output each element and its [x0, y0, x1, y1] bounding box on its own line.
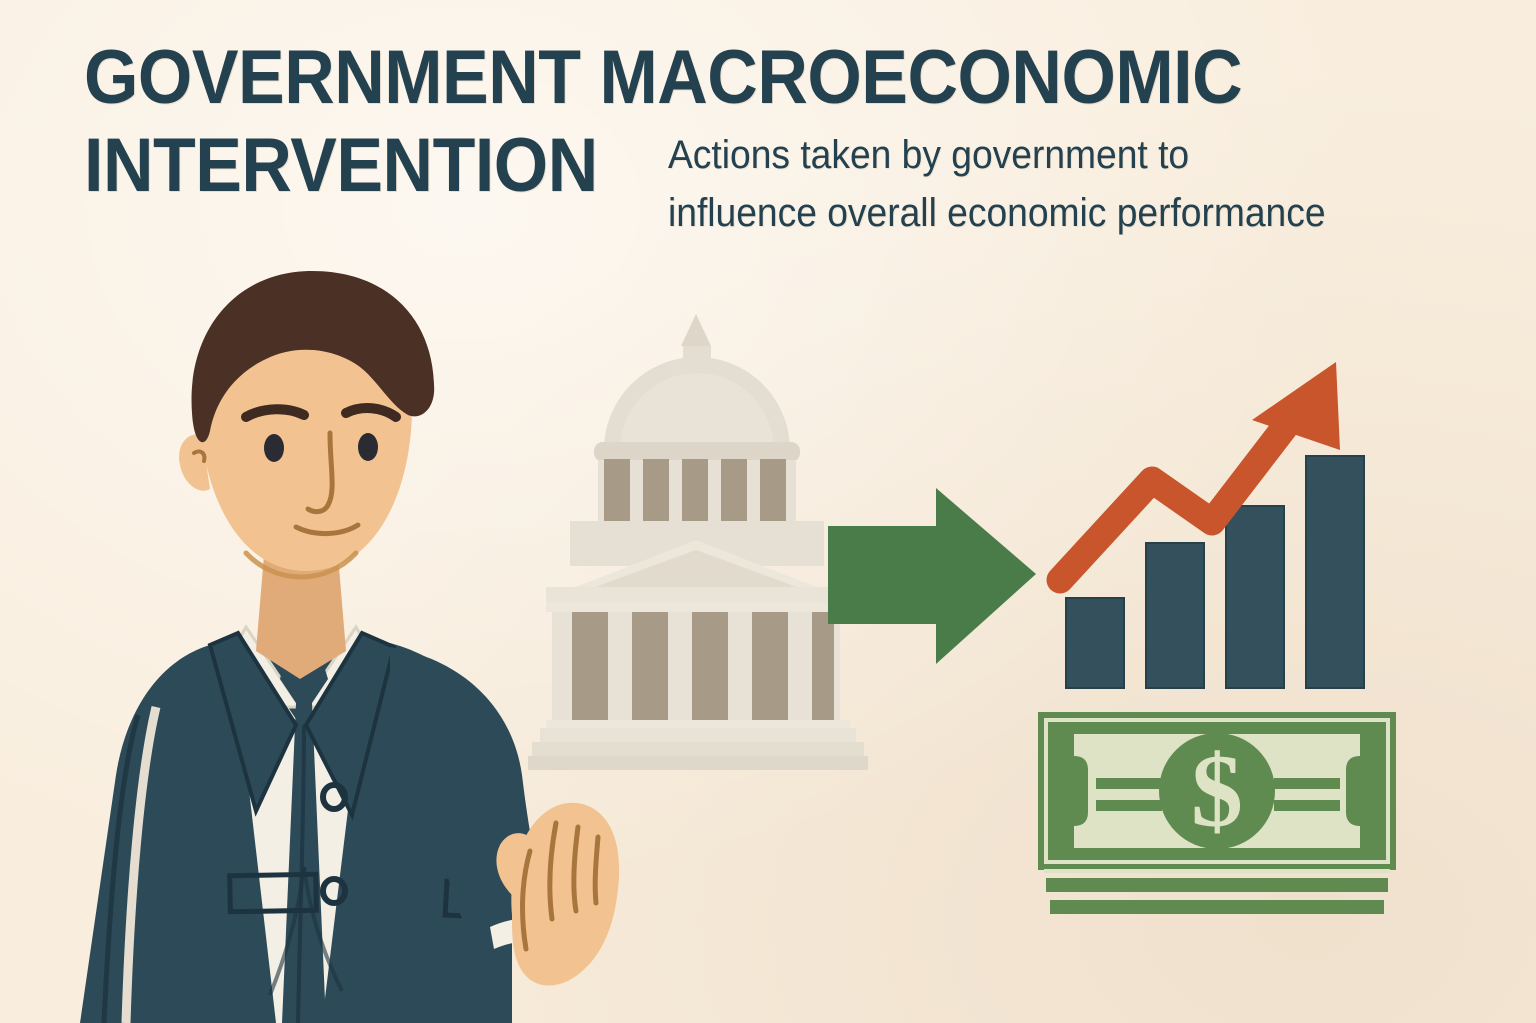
- businessman-illustration: [60, 255, 760, 1023]
- bar-4: [1306, 456, 1364, 688]
- bar-1: [1066, 598, 1124, 688]
- bar-chart-with-growth-arrow: [1040, 350, 1400, 690]
- headline-row: INTERVENTION Actions taken by government…: [84, 122, 1404, 242]
- eye-left: [264, 434, 284, 462]
- infographic-canvas: GOVERNMENT MACROECONOMIC INTERVENTION Ac…: [0, 0, 1536, 1023]
- bar-2: [1146, 543, 1204, 688]
- title-block: GOVERNMENT MACROECONOMIC INTERVENTION Ac…: [84, 34, 1404, 242]
- headline-line-1: GOVERNMENT MACROECONOMIC: [84, 34, 1298, 122]
- subtitle-line-2: influence overall economic performance: [668, 184, 1326, 242]
- dollar-banknote-icon: $: [1034, 708, 1402, 926]
- dollar-symbol: $: [1191, 734, 1243, 849]
- subtitle: Actions taken by government to influence…: [668, 126, 1326, 242]
- arrow-shape: [828, 488, 1036, 664]
- headline-line-2: INTERVENTION: [84, 122, 598, 210]
- bar-3: [1226, 506, 1284, 688]
- banknote-stack: [1044, 869, 1390, 914]
- subtitle-line-1: Actions taken by government to: [668, 126, 1326, 184]
- chart-bars: [1066, 456, 1364, 688]
- green-right-arrow-icon: [828, 478, 1048, 673]
- eye-right: [358, 433, 378, 461]
